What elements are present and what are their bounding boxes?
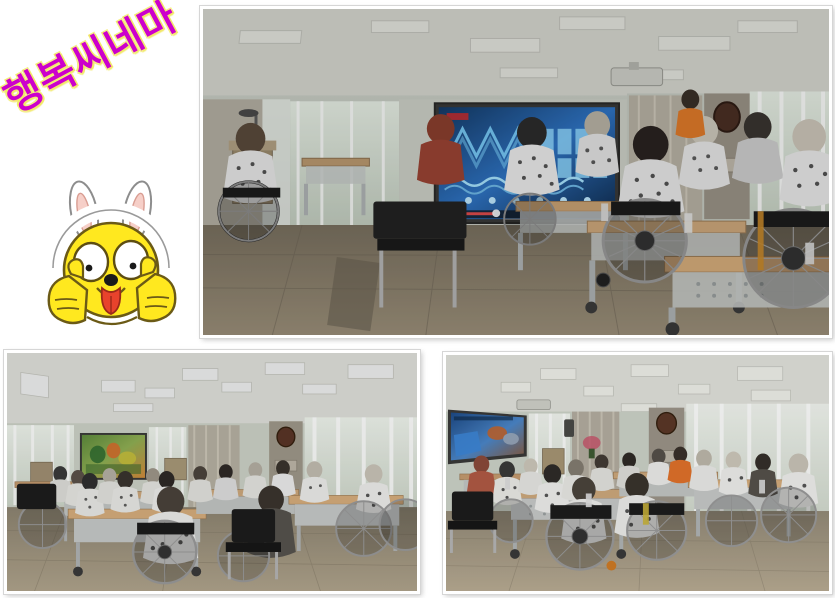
mascot-left-hand (49, 259, 87, 323)
mascot-illustration (35, 176, 195, 334)
photo-cinema-room-wide-view (200, 6, 832, 338)
photo-cinema-room-angled-view (443, 352, 832, 594)
poster-canvas: 행복씨네마 (0, 0, 835, 598)
title-block: 행복씨네마 (0, 0, 200, 180)
page-title: 행복씨네마 (0, 0, 186, 125)
photo-cinema-room-front-view (4, 350, 420, 594)
mascot-nose (104, 274, 118, 286)
